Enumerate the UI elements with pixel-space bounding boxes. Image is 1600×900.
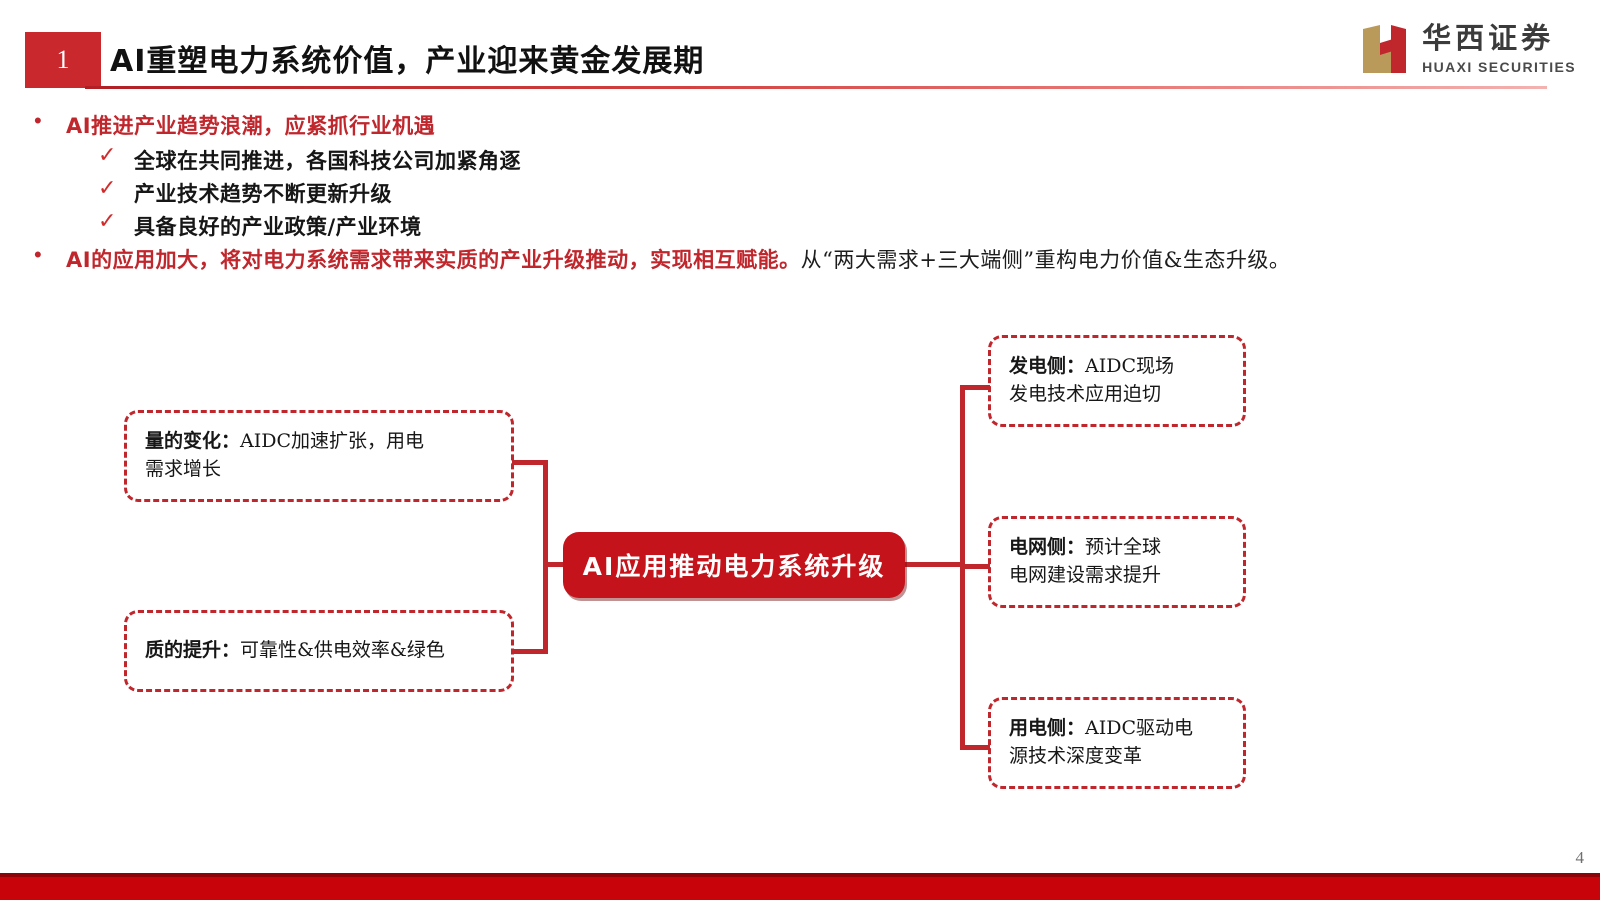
node-left-quantity[interactable]: 量的变化：AIDC加速扩张，用电 需求增长 [124,410,514,502]
page-number: 4 [1576,848,1585,868]
node-center-ai-upgrade[interactable]: AI应用推动电力系统升级 [563,532,905,598]
right-connector-stub-top [960,385,990,390]
node-right-consumption-prefix: 用电侧： [1009,717,1085,739]
bullet-item-2-tail: 从“两大需求+三大端侧”重构电力价值&生态升级。 [801,248,1291,272]
left-connector-stub-bottom [512,649,546,654]
logo-wordmark: 华西证券 HUAXI SECURITIES [1422,24,1576,74]
bullet-dot-icon: • [34,110,66,132]
node-right-grid-prefix: 电网侧： [1009,536,1085,558]
bullet-dot-icon: • [34,244,66,266]
node-right-generation[interactable]: 发电侧：AIDC现场 发电技术应用迫切 [988,335,1246,427]
node-center-label: AI应用推动电力系统升级 [583,547,886,583]
footer-bar [0,873,1600,900]
sub-bullet-item-3: ✓ 具备良好的产业政策/产业环境 [98,211,422,241]
bullet-item-2: • AI的应用加大，将对电力系统需求带来实质的产业升级推动，实现相互赋能。从“两… [34,244,1290,274]
sub-bullet-item-2: ✓ 产业技术趋势不断更新升级 [98,178,392,208]
bullet-item-1-label: AI推进产业趋势浪潮，应紧抓行业机遇 [66,110,435,140]
header-divider [85,86,1547,89]
bullet-item-1: • AI推进产业趋势浪潮，应紧抓行业机遇 [34,110,435,140]
node-right-grid[interactable]: 电网侧：预计全球 电网建设需求提升 [988,516,1246,608]
concept-diagram: 量的变化：AIDC加速扩张，用电 需求增长 质的提升：可靠性&供电效率&绿色 A… [0,300,1600,830]
bullet-item-2-content: AI的应用加大，将对电力系统需求带来实质的产业升级推动，实现相互赋能。从“两大需… [66,244,1290,274]
right-connector-stub-bottom [960,745,990,750]
left-connector-trunk [543,460,548,654]
node-left-quality-prefix: 质的提升： [145,639,240,661]
check-icon: ✓ [98,178,134,200]
node-right-generation-label: 发电侧：AIDC现场 发电技术应用迫切 [1009,353,1174,408]
check-icon: ✓ [98,211,134,233]
section-number-label: 1 [57,45,70,75]
logo-chinese-name: 华西证券 [1422,24,1576,53]
right-connector-stub-middle [960,564,990,569]
node-left-quantity-prefix: 量的变化： [145,430,240,452]
page-title: AI重塑电力系统价值，产业迎来黄金发展期 [110,36,704,80]
node-left-quality[interactable]: 质的提升：可靠性&供电效率&绿色 [124,610,514,692]
bullet-item-2-emphasis: AI的应用加大，将对电力系统需求带来实质的产业升级推动，实现相互赋能。 [66,248,801,272]
huaxi-h-mark-icon [1360,21,1410,77]
check-icon: ✓ [98,145,134,167]
node-left-quantity-label: 量的变化：AIDC加速扩张，用电 需求增长 [145,428,424,483]
node-right-grid-label: 电网侧：预计全球 电网建设需求提升 [1009,534,1161,589]
section-number-badge: 1 [25,32,101,88]
node-left-quality-body: 可靠性&供电效率&绿色 [240,639,445,661]
sub-bullet-item-2-label: 产业技术趋势不断更新升级 [134,178,392,208]
sub-bullet-item-3-label: 具备良好的产业政策/产业环境 [134,211,422,241]
node-left-quality-label: 质的提升：可靠性&供电效率&绿色 [145,637,445,665]
logo-english-name: HUAXI SECURITIES [1422,60,1576,74]
right-connector-stub-center [900,562,962,567]
node-right-consumption-label: 用电侧：AIDC驱动电 源技术深度变革 [1009,715,1193,770]
sub-bullet-item-1-label: 全球在共同推进，各国科技公司加紧角逐 [134,145,521,175]
company-logo: 华西证券 HUAXI SECURITIES [1360,16,1576,82]
node-right-generation-prefix: 发电侧： [1009,355,1085,377]
sub-bullet-item-1: ✓ 全球在共同推进，各国科技公司加紧角逐 [98,145,521,175]
left-connector-stub-top [512,460,546,465]
node-right-consumption[interactable]: 用电侧：AIDC驱动电 源技术深度变革 [988,697,1246,789]
